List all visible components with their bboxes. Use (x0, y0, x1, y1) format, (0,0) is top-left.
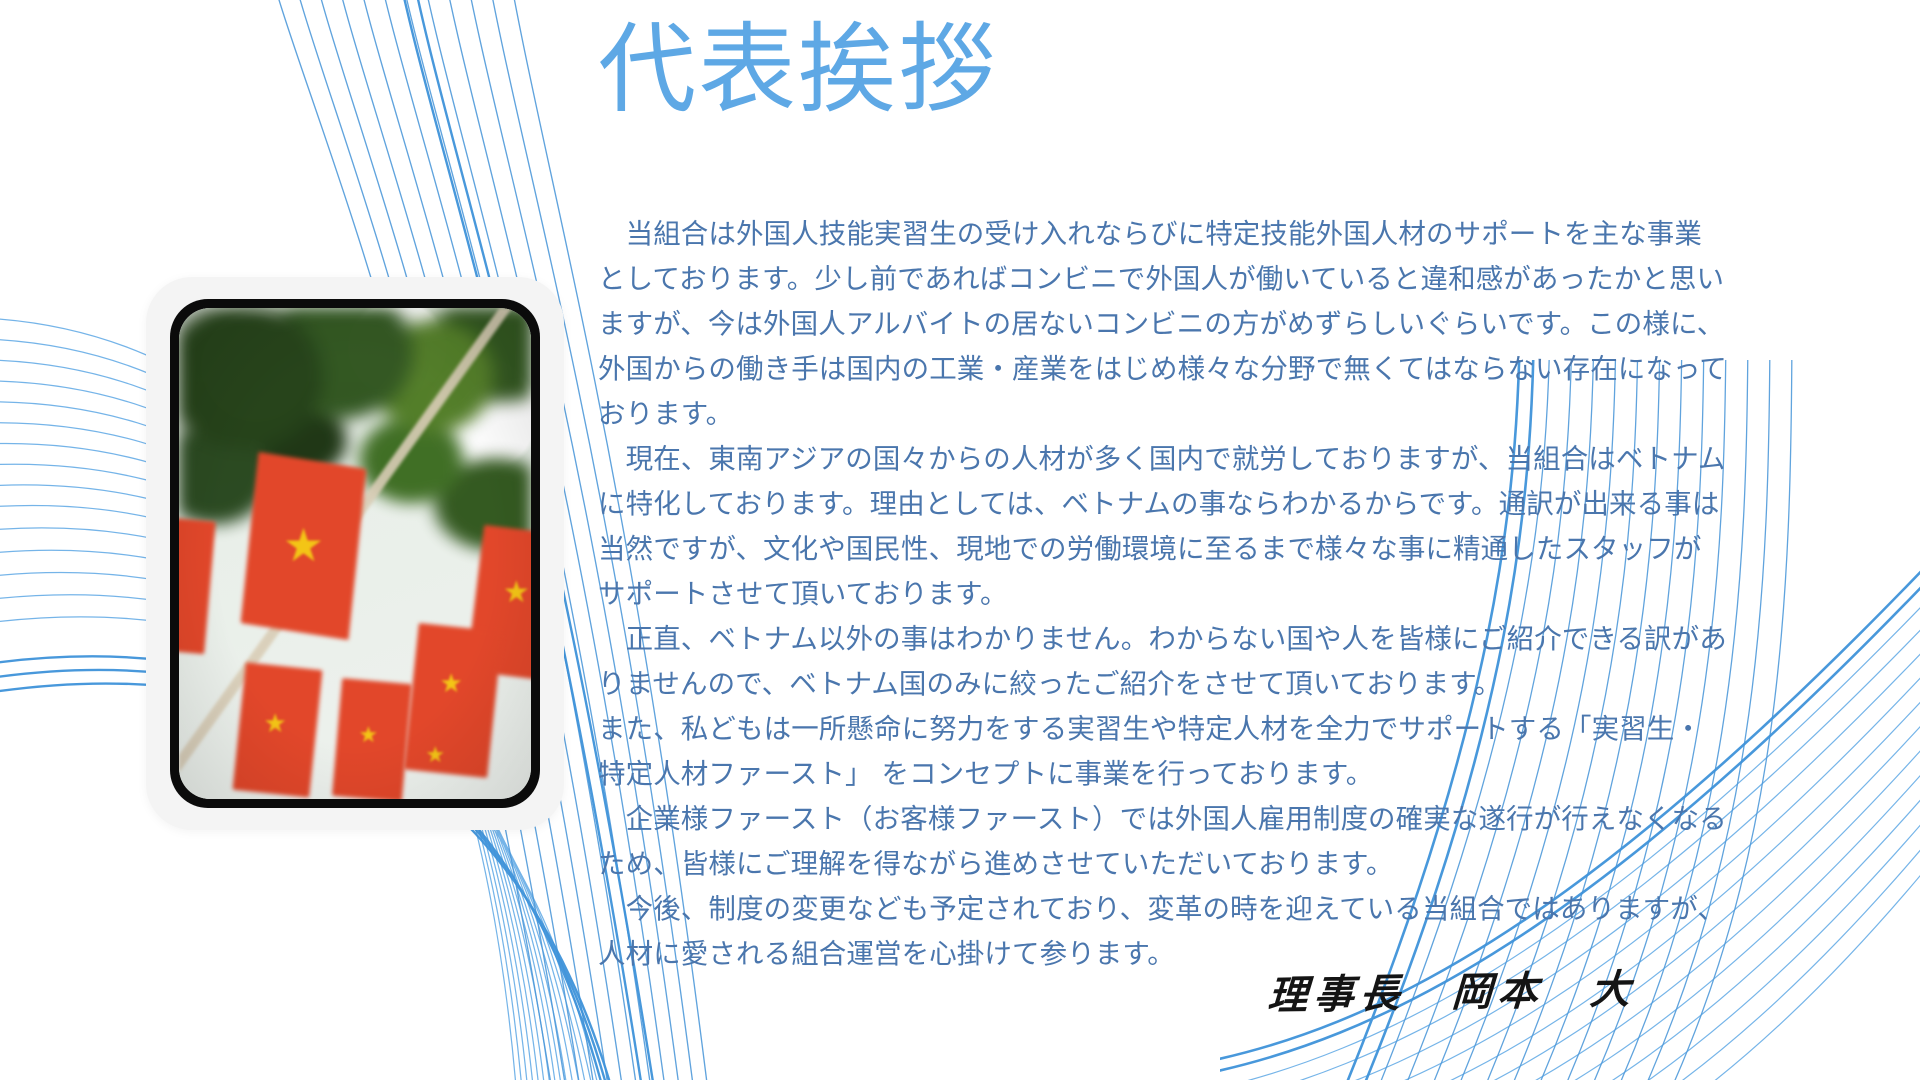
photo-card: ★ ★ ★ ★ ★ ★ (146, 277, 564, 830)
greeting-paragraph: 当組合は外国人技能実習生の受け入れならびに特定技能外国人材のサポートを主な事業と… (598, 212, 1728, 437)
greeting-paragraph: 現在、東南アジアの国々からの人材が多く国内で就労しておりますが、当組合はベトナム… (598, 437, 1728, 617)
vietnam-flags-photo: ★ ★ ★ ★ ★ ★ (179, 308, 531, 799)
greeting-paragraph: 企業様ファースト（お客様ファースト）では外国人雇用制度の確実な遂行が行えなくなる… (598, 797, 1728, 887)
slide-canvas: 代表挨拶 ★ ★ ★ ★ ★ (0, 0, 1920, 1080)
page-title: 代表挨拶 (598, 14, 998, 127)
greeting-body: 当組合は外国人技能実習生の受け入れならびに特定技能外国人材のサポートを主な事業と… (598, 212, 1728, 977)
signature: 理事長 岡本 大 (1266, 957, 1637, 1021)
photo-frame: ★ ★ ★ ★ ★ ★ (170, 299, 540, 808)
greeting-paragraph: また、私どもは一所懸命に努力をする実習生や特定人材を全力でサポートする「実習生・… (598, 707, 1728, 797)
greeting-paragraph: 正直、ベトナム以外の事はわかりません。わからない国や人を皆様にご紹介できる訳があ… (598, 617, 1728, 707)
